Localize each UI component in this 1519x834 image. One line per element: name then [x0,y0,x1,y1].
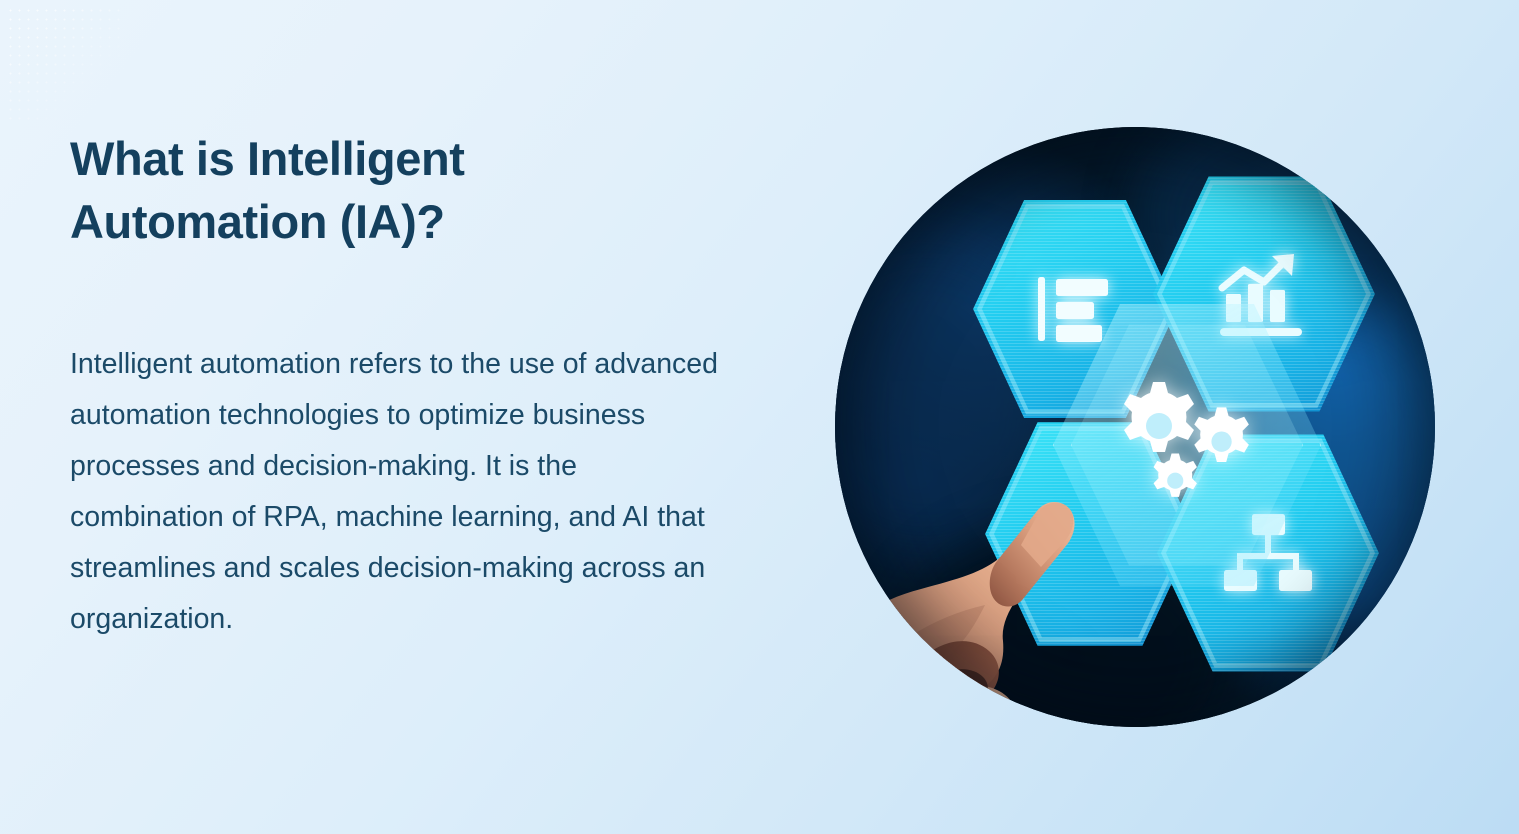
page-background: What is Intelligent Automation (IA)? Int… [0,0,1519,834]
page-title: What is Intelligent Automation (IA)? [70,128,630,253]
body-paragraph: Intelligent automation refers to the use… [70,339,730,645]
text-column: What is Intelligent Automation (IA)? Int… [70,128,760,645]
illustration-circle [835,127,1435,727]
decorative-dot-pattern [6,6,126,126]
pointing-hand [835,427,1155,727]
